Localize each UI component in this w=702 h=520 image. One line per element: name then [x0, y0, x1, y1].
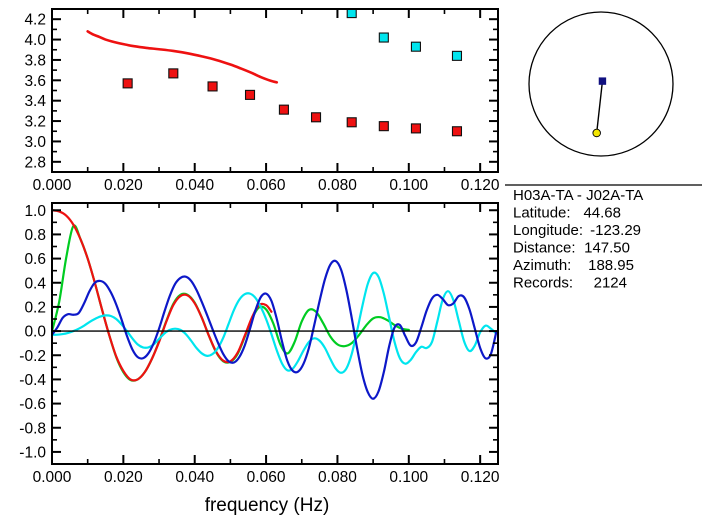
data-marker-square [411, 124, 420, 133]
latitude-label: Latitude: [513, 205, 571, 222]
azimuth-label: Azimuth: [513, 257, 571, 274]
station-path-line [597, 81, 603, 133]
dispersion-plot-data [88, 9, 462, 136]
x-tick-label: 0.020 [104, 177, 143, 194]
center-station-marker [599, 78, 605, 84]
x-tick-label: 0.000 [33, 469, 72, 486]
data-marker-square [208, 82, 217, 91]
y-tick-label: -0.8 [19, 420, 46, 437]
trace-blue [52, 261, 496, 399]
x-tick-label: 0.000 [33, 177, 72, 194]
azimuth-value: 188.95 [588, 257, 634, 274]
y-tick-label: 3.2 [24, 114, 46, 131]
y-tick-label: 2.8 [24, 154, 46, 171]
phase-velocity-cyan-squares [347, 9, 461, 61]
data-marker-square [347, 118, 356, 127]
x-tick-label: 0.080 [318, 469, 357, 486]
distance-value: 147.50 [584, 240, 630, 257]
data-marker-square [379, 33, 388, 42]
x-tick-label: 0.120 [461, 469, 500, 486]
x-tick-label: 0.040 [175, 177, 214, 194]
x-tick-label: 0.060 [247, 469, 286, 486]
y-tick-label: -0.2 [19, 348, 46, 365]
data-marker-square [246, 90, 255, 99]
y-tick-label: 0.4 [24, 275, 46, 292]
y-tick-label: 0.0 [24, 324, 46, 341]
trace-green [52, 225, 409, 380]
y-tick-label: 0.8 [24, 227, 46, 244]
x-tick-label: 0.040 [175, 469, 214, 486]
y-tick-label: 3.8 [24, 52, 46, 69]
dispersion-plot-frame [52, 9, 498, 172]
y-tick-label: 0.2 [24, 299, 46, 316]
distance-label: Distance: [513, 240, 576, 257]
remote-station-marker [593, 129, 601, 137]
scientific-figure: 0.0000.0200.0400.0600.0800.1000.1202.83.… [0, 0, 702, 520]
y-tick-label: 4.0 [24, 32, 46, 49]
figure-root: 0.0000.0200.0400.0600.0800.1000.1202.83.… [0, 0, 702, 520]
y-tick-label: -0.4 [19, 372, 46, 389]
dispersion-x-axis: 0.0000.0200.0400.0600.0800.1000.120 [33, 9, 500, 194]
data-marker-square [279, 105, 288, 114]
latitude-value: 44.68 [583, 205, 621, 222]
data-marker-square [452, 127, 461, 136]
x-tick-label: 0.100 [389, 469, 428, 486]
y-tick-label: 3.4 [24, 93, 46, 110]
records-label: Records: [513, 275, 573, 292]
spectrum-plot-frame [52, 203, 498, 464]
data-marker-square [169, 69, 178, 78]
station-pair-info: H03A-TA - J02A-TALatitude:44.68Longitude… [513, 187, 643, 292]
longitude-label: Longitude: [513, 222, 583, 239]
data-marker-square [379, 122, 388, 131]
azimuth-circle-diagram [529, 12, 673, 156]
trace-red [52, 210, 271, 380]
x-tick-label: 0.120 [461, 177, 500, 194]
data-marker-square [411, 42, 420, 51]
y-tick-label: 3.6 [24, 73, 46, 90]
x-tick-label: 0.080 [318, 177, 357, 194]
data-marker-square [312, 113, 321, 122]
x-tick-label: 0.100 [389, 177, 428, 194]
y-tick-label: 1.0 [24, 203, 46, 220]
data-marker-square [452, 51, 461, 60]
spectrum-plot-data [52, 210, 496, 399]
x-tick-label: 0.020 [104, 469, 143, 486]
spectrum-y-axis: -1.0-0.8-0.6-0.4-0.20.00.20.40.60.81.0 [19, 203, 498, 462]
y-tick-label: -1.0 [19, 444, 46, 461]
phase-velocity-red-squares [123, 69, 461, 136]
station-pair-title: H03A-TA - J02A-TA [513, 187, 643, 204]
data-marker-square [123, 79, 132, 88]
y-tick-label: -0.6 [19, 396, 46, 413]
model-curve-red [88, 31, 277, 82]
x-tick-label: 0.060 [247, 177, 286, 194]
y-tick-label: 0.6 [24, 251, 46, 268]
y-tick-label: 3.0 [24, 134, 46, 151]
y-tick-label: 4.2 [24, 12, 46, 29]
records-value: 2124 [594, 275, 627, 292]
spectrum-x-axis-title: frequency (Hz) [205, 495, 330, 516]
longitude-value: -123.29 [590, 222, 641, 239]
